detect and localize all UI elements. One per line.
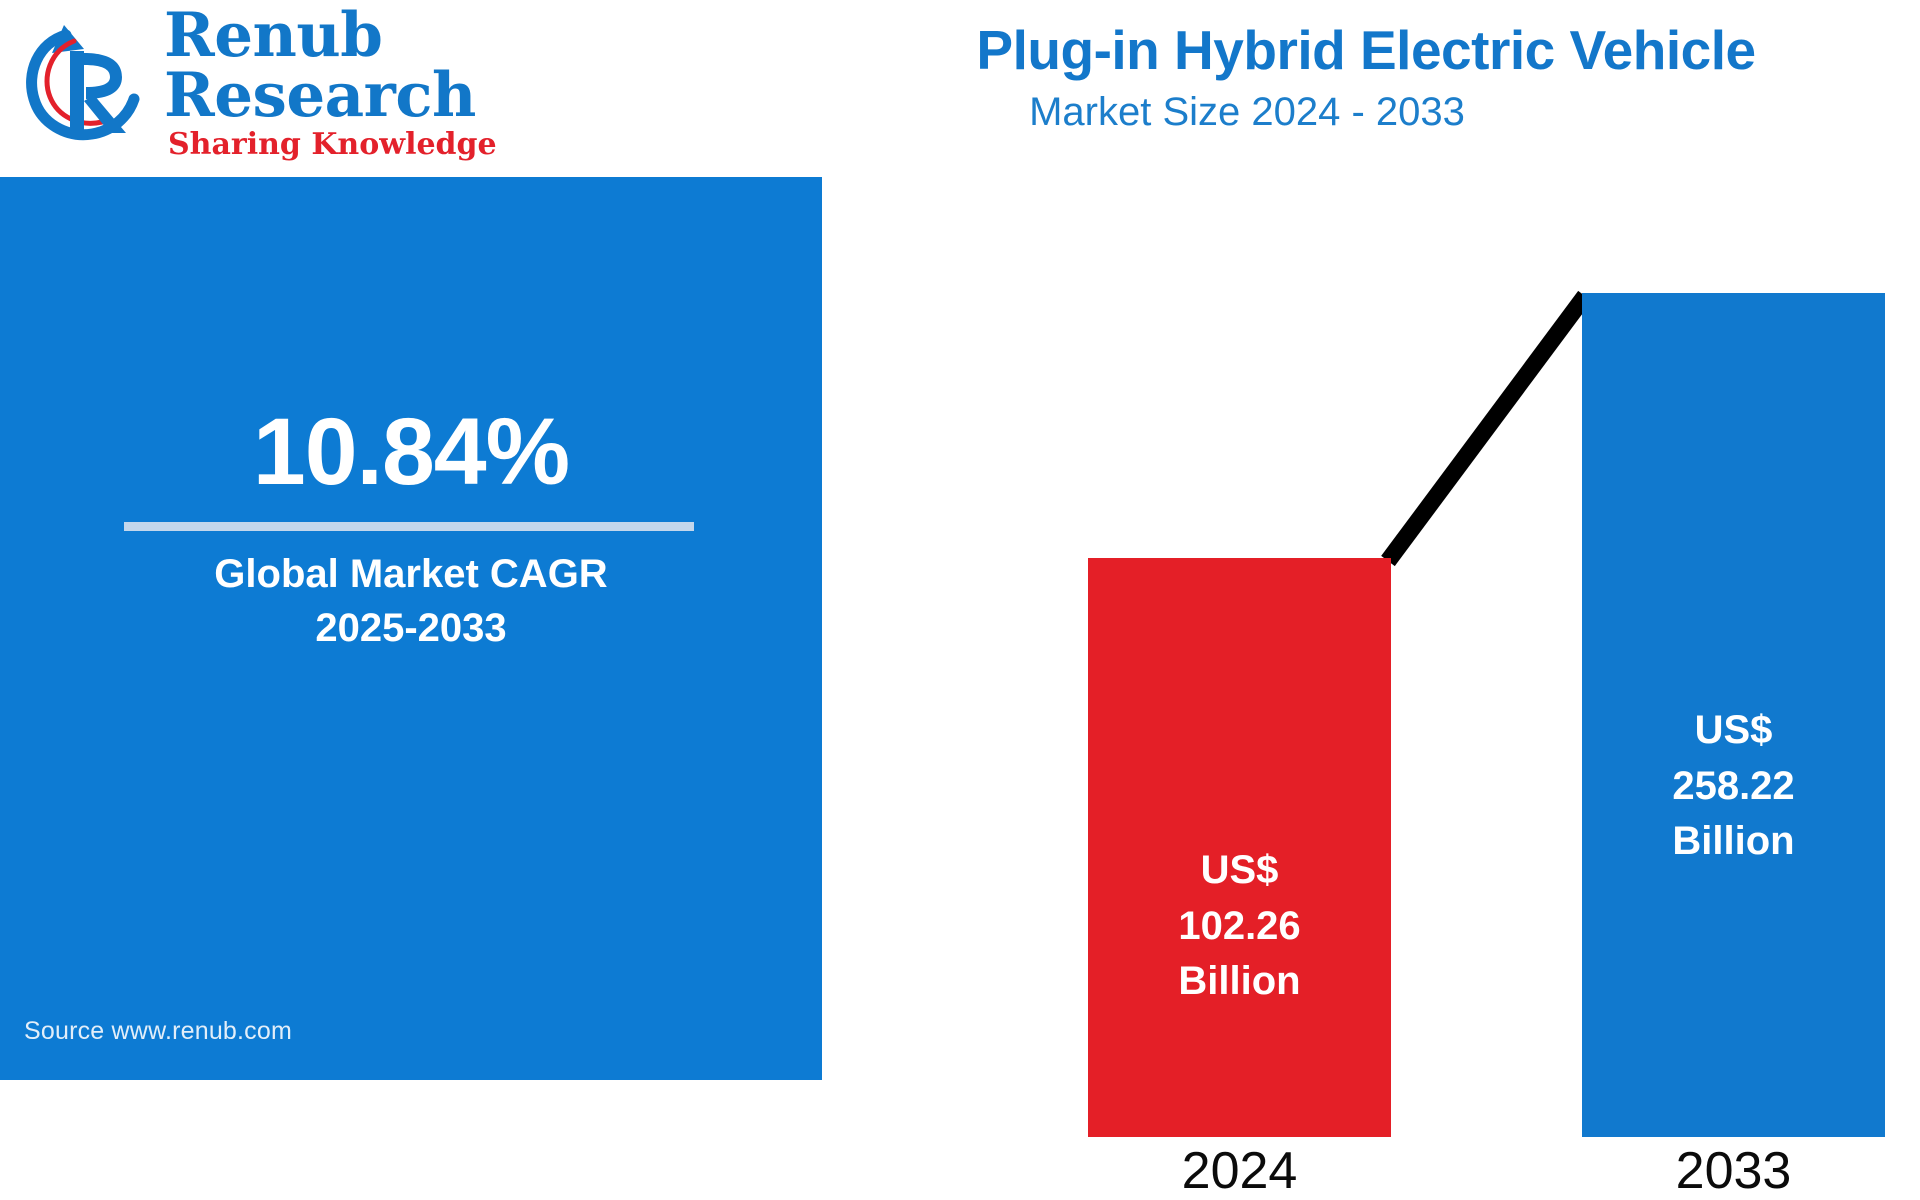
page-subtitle: Market Size 2024 - 2033 bbox=[598, 90, 1896, 134]
cagr-label: Global Market CAGR bbox=[214, 547, 607, 601]
bar-2024-value: 102.26 bbox=[1178, 899, 1300, 954]
page-title: Plug-in Hybrid Electric Vehicle bbox=[836, 22, 1896, 80]
cagr-value: 10.84% bbox=[253, 405, 569, 500]
bar-2033-label: US$ 258.22 Billion bbox=[1672, 703, 1794, 869]
brand-wordmark: Renub Research Sharing Knowledge bbox=[164, 6, 642, 162]
bar-2024-unit: Billion bbox=[1178, 954, 1300, 1009]
bar-2033-value: 258.22 bbox=[1672, 759, 1794, 814]
bar-2024[interactable]: US$ 102.26 Billion bbox=[1088, 558, 1391, 1137]
renub-circular-arrow-r-logo-icon bbox=[22, 21, 150, 147]
title-block: Plug-in Hybrid Electric Vehicle Market S… bbox=[836, 22, 1896, 134]
divider bbox=[124, 522, 694, 531]
cagr-panel: 10.84% Global Market CAGR 2025-2033 Sour… bbox=[0, 177, 822, 1080]
bar-2024-currency: US$ bbox=[1178, 843, 1300, 898]
brand-tagline: Sharing Knowledge bbox=[168, 128, 497, 163]
cagr-stat: 10.84% Global Market CAGR 2025-2033 bbox=[0, 405, 822, 655]
x-tick-2024: 2024 bbox=[1088, 1145, 1391, 1197]
bar-2024-label: US$ 102.26 Billion bbox=[1178, 843, 1300, 1009]
bar-2033[interactable]: US$ 258.22 Billion bbox=[1582, 293, 1885, 1137]
bar-2033-currency: US$ bbox=[1672, 703, 1794, 758]
source-note: Source www.renub.com bbox=[24, 1017, 292, 1046]
bar-chart: US$ 102.26 Billion US$ 258.22 Billion 20… bbox=[822, 177, 1920, 1080]
brand-name: Renub Research bbox=[164, 6, 642, 126]
brand-logo[interactable]: Renub Research Sharing Knowledge bbox=[22, 14, 642, 154]
bar-2033-unit: Billion bbox=[1672, 814, 1794, 869]
x-tick-2033: 2033 bbox=[1582, 1145, 1885, 1197]
cagr-period: 2025-2033 bbox=[315, 601, 506, 655]
